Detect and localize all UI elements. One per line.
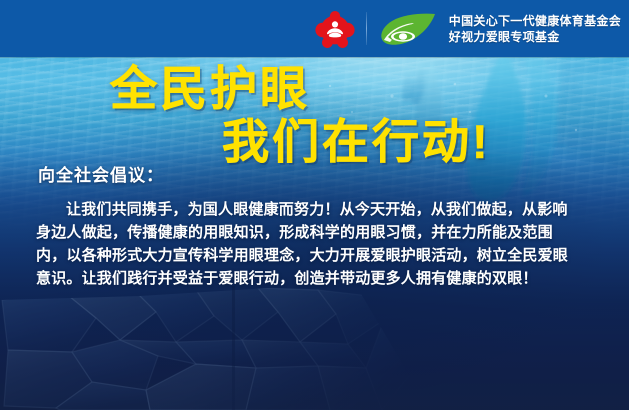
brand-divider (366, 12, 367, 45)
header-brand-bar: 中国关心下一代健康体育基金会 好视力爱眼专项基金 (0, 0, 629, 57)
appeal-line: 意识。让我们践行并受益于爱眼行动，创造并带动更多人拥有健康的双眼！ (36, 267, 613, 290)
appeal-block: 向全社会倡议： 让我们共同携手，为国人眼健康而努力！从今天开始，从我们做起，从影… (0, 164, 629, 290)
appeal-body: 让我们共同携手，为国人眼健康而努力！从今天开始，从我们做起，从影响 身边人做起，… (0, 198, 629, 290)
headline-line-2: 我们在行动! (0, 115, 629, 168)
poster-root: 中国关心下一代健康体育基金会 好视力爱眼专项基金 全民护眼 我们在行动! 向全社… (0, 0, 629, 410)
headline: 全民护眼 我们在行动! (0, 62, 629, 168)
appeal-line: 让我们共同携手，为国人眼健康而努力！从今天开始，从我们做起，从影响 (36, 198, 613, 221)
china-care-next-generation-foundation-logo (315, 8, 355, 50)
organization-name-line-1: 中国关心下一代健康体育基金会 (449, 13, 621, 29)
appeal-line: 身边人做起，传播健康的用眼知识，形成科学的用眼习惯，并在力所能及范围 (36, 221, 613, 244)
appeal-line: 内，以各种形式大力宣传科学用眼理念，大力开展爱眼护眼活动，树立全民爱眼 (36, 244, 613, 267)
good-vision-eye-care-fund-leaf-logo (378, 9, 440, 49)
brand-group: 中国关心下一代健康体育基金会 好视力爱眼专项基金 (315, 0, 621, 57)
organization-name: 中国关心下一代健康体育基金会 好视力爱眼专项基金 (449, 13, 621, 45)
organization-name-line-2: 好视力爱眼专项基金 (449, 29, 621, 45)
headline-line-1: 全民护眼 (0, 62, 629, 115)
appeal-title: 向全社会倡议： (0, 164, 629, 188)
